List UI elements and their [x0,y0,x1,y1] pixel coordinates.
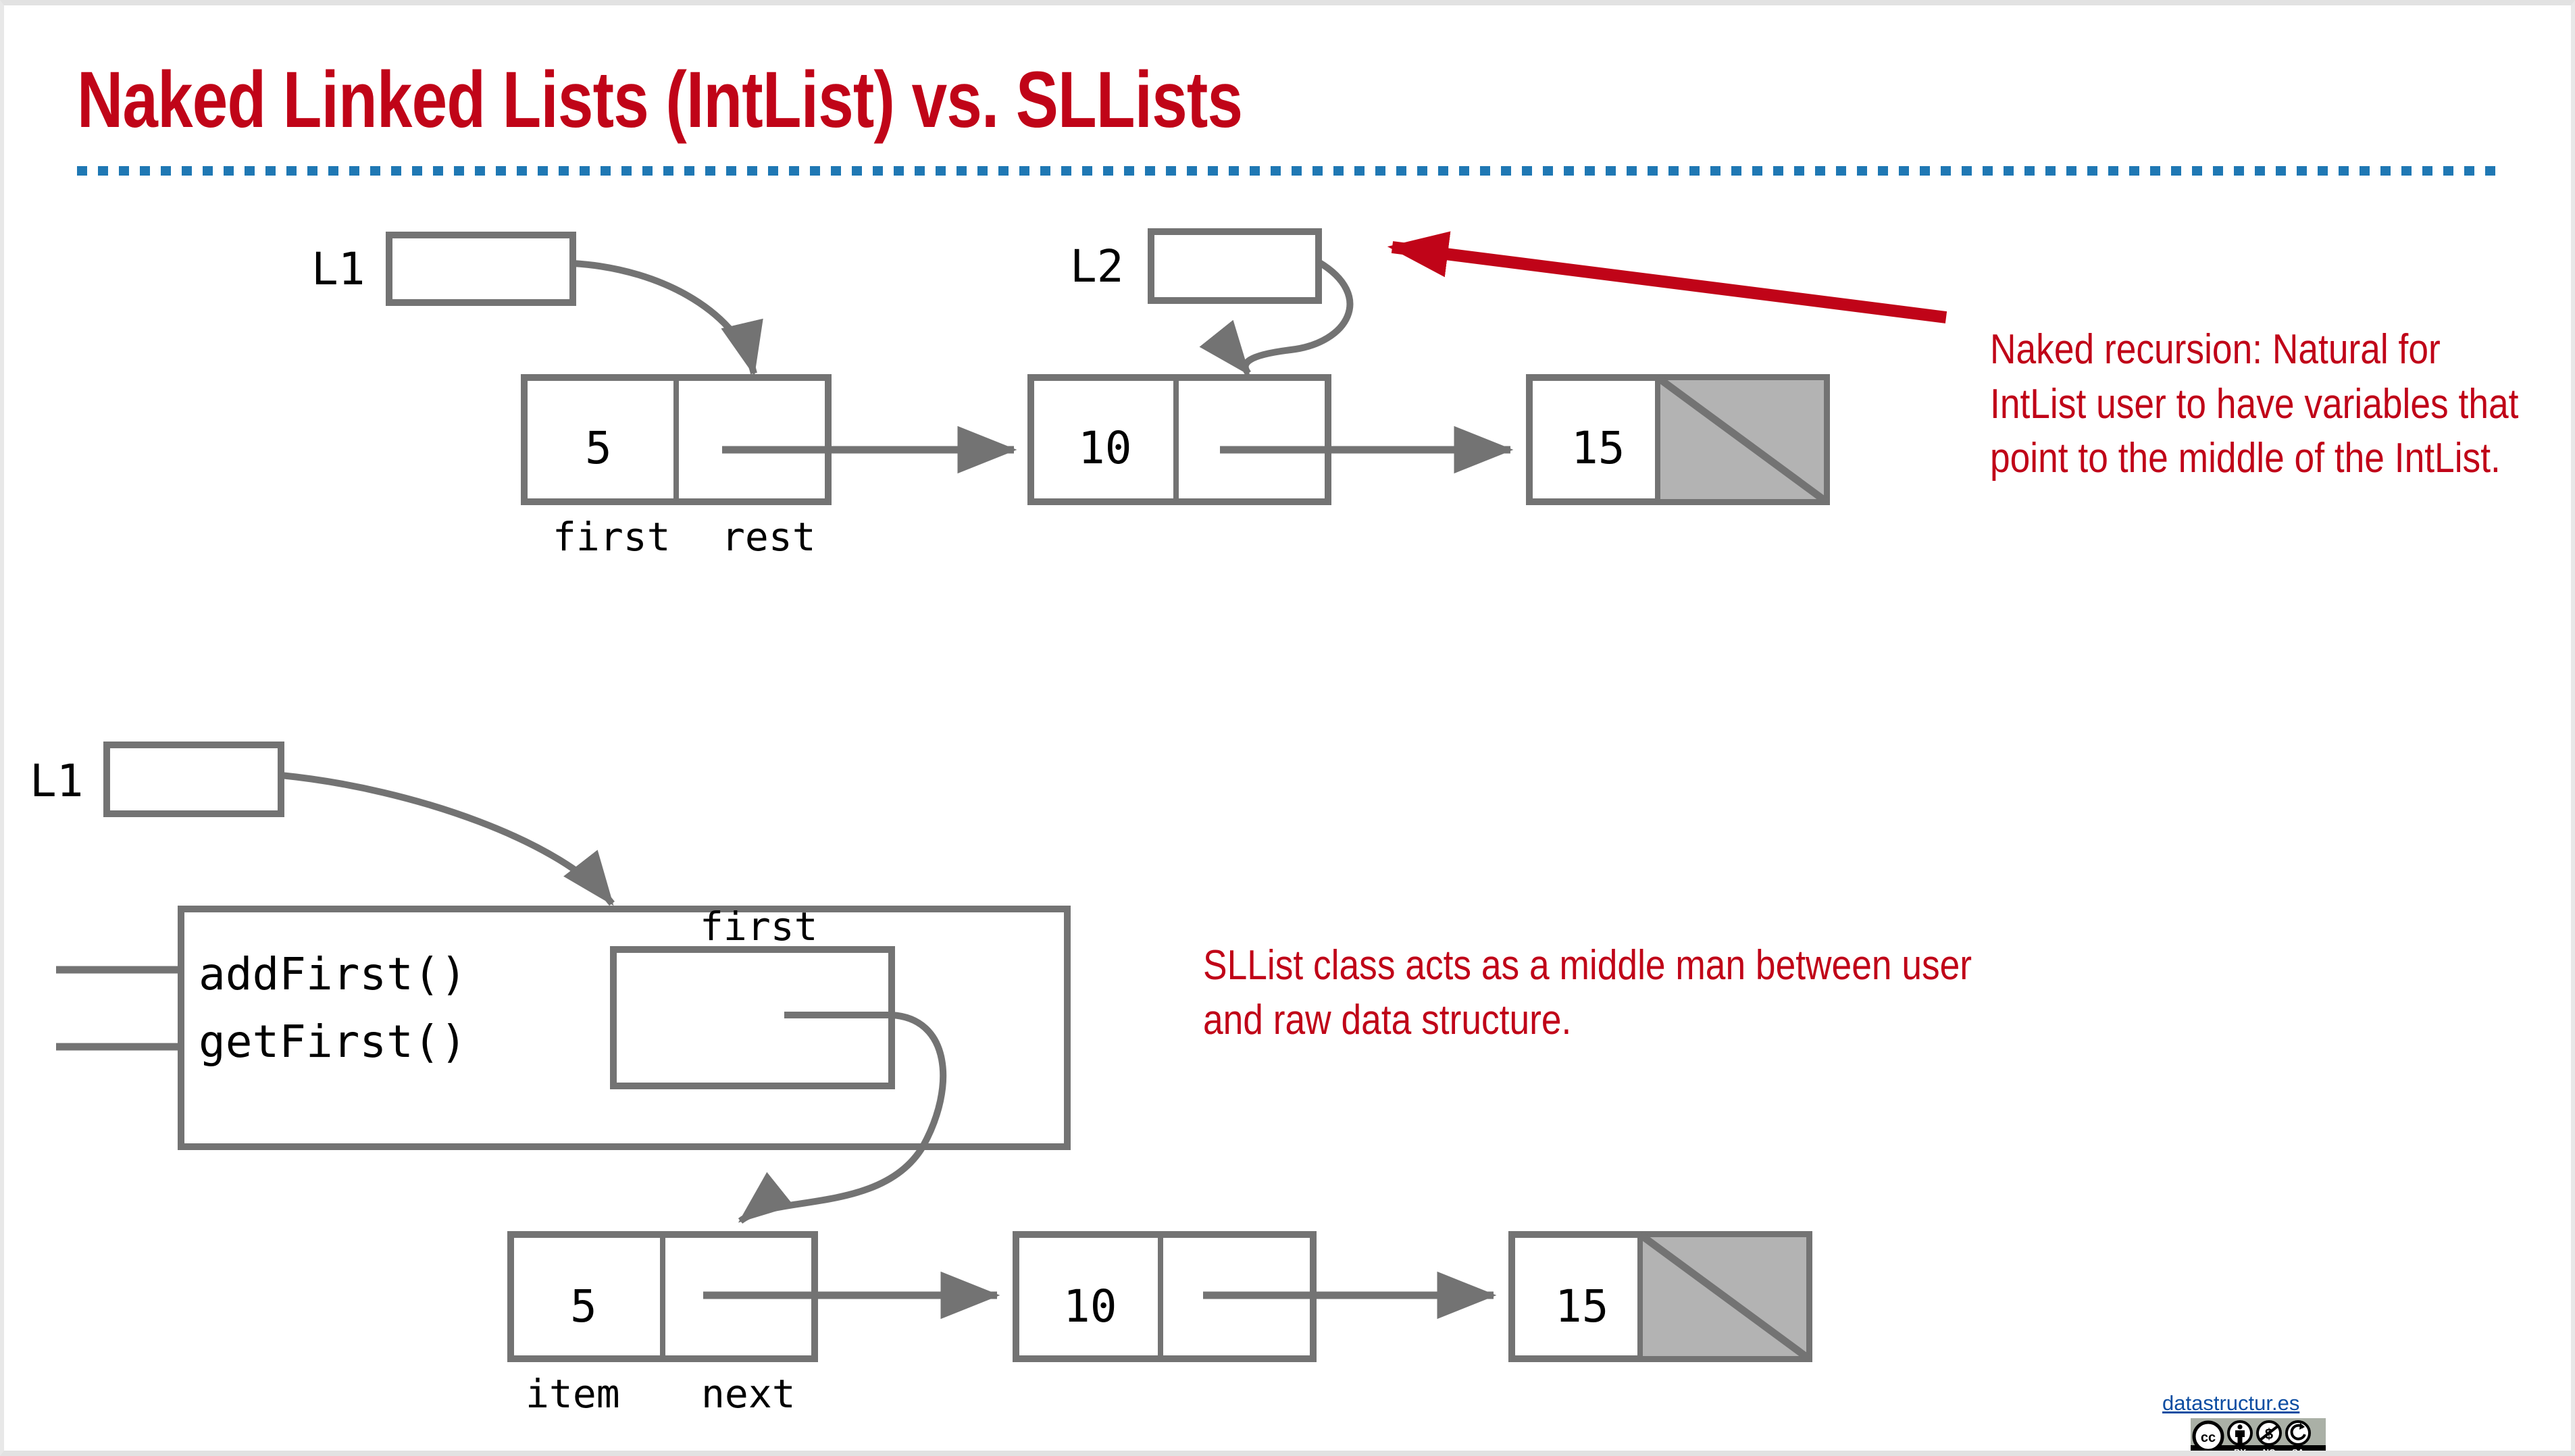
first-field-label: first [553,514,671,560]
slide-canvas: Naked Linked Lists (IntList) vs. SLLists [0,0,2575,1456]
item-field-label: item [526,1371,620,1417]
nc-icon: $ NC [2258,1422,2280,1456]
by-icon: BY [2228,1422,2251,1456]
node5-value-top: 5 [585,422,612,474]
datastructures-site-link[interactable]: datastructur.es [2162,1391,2299,1415]
l1-to-sllist-arrow [281,775,612,904]
svg-text:cc: cc [2201,1430,2216,1445]
node15-value-top: 15 [1571,422,1625,474]
creative-commons-license-badge[interactable]: cc BY $ NC SA [2191,1418,2326,1456]
node5-value-bottom: 5 [570,1280,597,1332]
node10-value-top: 10 [1078,422,1131,474]
rest-field-label: rest [721,514,816,560]
l1-label-top: L1 [311,243,365,295]
next-field-label: next [701,1371,796,1417]
addfirst-method-label: addFirst() [199,948,467,1000]
node10-value-bottom: 10 [1063,1280,1117,1332]
nc-label: NC [2263,1447,2276,1456]
l2-pointer-box [1151,232,1319,301]
node10-box-top [1031,378,1328,502]
sa-icon: SA [2287,1422,2310,1456]
getfirst-method-label: getFirst() [199,1016,467,1068]
first-pointer-field-label: first [700,904,818,950]
sa-label: SA [2292,1447,2305,1456]
l2-label: L2 [1070,240,1123,292]
by-label: BY [2234,1447,2246,1456]
naked-recursion-note: Naked recursion: Natural for IntList use… [1990,323,2542,486]
l1-label-bottom: L1 [30,755,83,807]
l1-pointer-box-bottom [107,745,281,814]
sllist-middleman-note: SLList class acts as a middle man betwee… [1203,939,2016,1047]
cc-icon: cc [2194,1422,2222,1451]
l1-to-node5-arrow [573,263,754,373]
diagram-canvas [4,5,2575,1456]
node15-value-bottom: 15 [1555,1280,1608,1332]
l1-pointer-box-top [389,235,573,303]
naked-recursion-callout-arrow [1392,247,1946,317]
